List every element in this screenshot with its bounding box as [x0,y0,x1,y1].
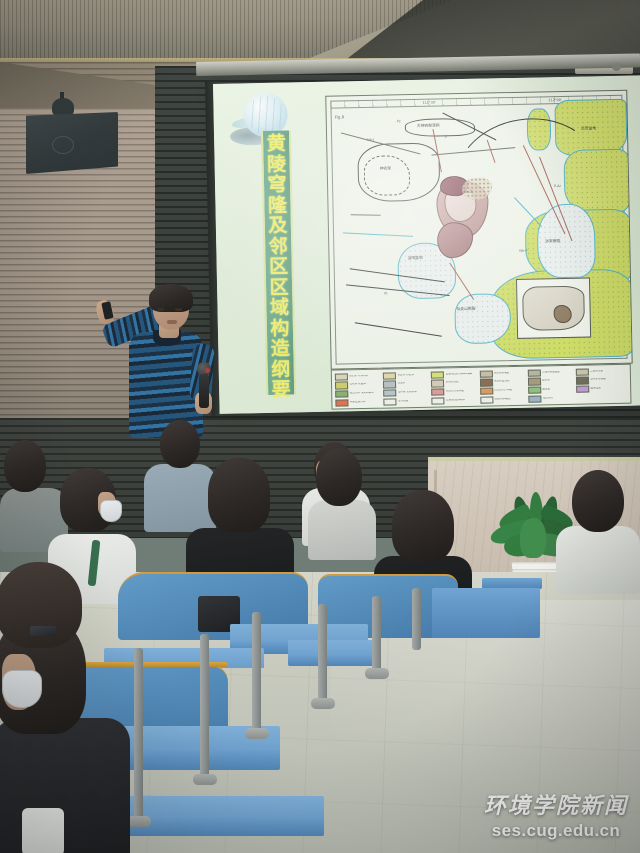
desk-side-panel [432,588,540,638]
legend-swatch [480,396,493,404]
map-place-label-0: 大神农架背斜 [417,122,440,128]
title-char-4: 及 [268,216,287,237]
legend-label: 青白口系 浅变质岩系 [350,392,374,395]
desk-leg-foot [127,816,151,827]
legend-label: 古元古代片麻岩 [494,389,512,392]
legend-item: 侏罗系碎屑岩 [479,369,525,377]
legend-item: 逆冲断层 [384,397,430,405]
phone[interactable] [30,626,56,636]
legend-swatch [384,398,397,406]
legend-swatch [576,385,589,393]
legend-swatch [480,387,493,395]
desk-leg-foot [311,698,335,709]
legend-swatch [335,390,348,398]
legend-label: 南华系冰碛岩 [590,379,606,382]
title-char-8: 域 [270,298,289,319]
legend-item: 新近系-古近系 [383,371,429,379]
legend-label: 超基性岩 [590,387,600,390]
desk-leg [412,588,421,650]
legend-swatch [383,389,396,397]
legend-label: 奥陶系灰岩 [446,382,459,385]
title-char-5: 邻 [269,236,288,257]
watermark-chinese: 环境学院新闻 [484,796,628,818]
legend-label: 二叠系灰岩 [590,370,603,373]
legend-item: 震旦系 [528,377,574,385]
legend-label: 三叠系碳酸盐岩 [542,371,560,374]
legend-label: 志留系 [398,383,406,386]
legend-swatch [576,368,589,376]
desk-leg [252,612,261,736]
lecture-hall-photo: 黄 陵 穹 隆 及 邻 区 区 域 构 造 纲 要 111°30' 112°00… [0,0,640,853]
map-basin-shennongjia-inner [363,155,410,196]
legend-label: 新近系-古近系 [397,374,414,377]
audience-head [208,458,270,532]
legend-label: 中酸性侵入体 [350,401,366,404]
legend-item: 古元古代片麻岩 [480,387,526,395]
audience-head [4,440,46,492]
legend-item: 新元古代花岗岩 [432,388,478,396]
map-unit-code-2: Nh-P [519,249,527,253]
legend-swatch [528,386,541,394]
title-char-9: 构 [270,318,289,339]
projection-screen: 黄 陵 穹 隆 及 邻 区 区 域 构 造 纲 要 111°30' 112°00… [213,75,640,414]
face-mask-icon [100,500,122,522]
legend-label: 侏罗系碎屑岩 [494,372,510,375]
map-inset-china [516,277,591,338]
map-unit-code-6: Jr [445,134,447,138]
title-char-1: 陵 [267,154,286,175]
legend-swatch [528,378,541,386]
legend-swatch [335,382,348,390]
desk-edge [124,816,324,836]
map-unit-code-4: Pt [384,292,387,296]
audience-head [392,490,454,562]
legend-label: 地质界线 [542,397,552,400]
desk-leg [372,596,381,674]
legend-label: 白垩系红层 陆相碎屑岩 [446,373,473,376]
legend-label: 逆冲断层 [398,400,408,403]
map-place-label-4: 远安断陷 [545,238,560,244]
legend-item: 超基性岩 [576,385,622,393]
presenter-eye-left [157,308,164,311]
audience-member [308,448,378,558]
legend-item: 中酸性侵入体 [335,398,381,406]
geological-map: 111°30' 112°00' Fig.8 大神农架背斜 神农架 [325,90,632,370]
legend-item: 三叠系碳酸盐岩 [528,368,574,376]
title-char-10: 造 [271,339,290,360]
legend-swatch [335,399,348,407]
legend-item: 白垩系红层 陆相碎屑岩 [431,370,477,378]
slide-title-band: 黄 陵 穹 隆 及 邻 区 区 域 构 造 纲 要 [261,130,296,395]
paper-sheet [22,808,64,853]
legend-swatch [335,373,348,381]
legend-label: 石炭系-泥盆系 [349,383,366,386]
legend-swatch [431,371,444,379]
map-place-label-1: 神农架 [380,165,392,171]
legend-swatch [383,381,396,389]
microphone-body [199,374,209,408]
speaker-mount [52,98,74,116]
legend-swatch [432,388,445,396]
map-place-label-6: 远安盆地 [581,125,596,131]
legend-label: 背斜/向斜轴迹 [494,398,510,401]
speaker-cone [52,136,74,154]
presenter-hair [149,284,193,312]
map-coord-label-0: 111°30' [422,101,435,105]
title-char-3: 隆 [268,195,287,216]
legend-swatch [480,379,493,387]
legend-item: 正断层/走滑断层 [432,396,478,404]
legend-label: 新元古代花岗岩 [446,390,464,393]
map-figure-label: Fig.8 [335,114,345,119]
title-char-11: 纲 [271,359,290,380]
map-unit-code-5: Pz [397,119,401,123]
legend-item: 二叠系灰岩 [576,367,622,375]
legend-item: 基性岩 [528,386,574,394]
desk-leg-foot [193,774,217,785]
presenter-mouth [167,320,177,324]
legend-label: 崆岭群 变质杂岩 [398,391,417,394]
legend-item: 寒武系白云岩 [480,378,526,386]
audience-head [572,470,624,532]
legend-label: 寒武系白云岩 [494,381,510,384]
title-char-7: 区 [269,277,288,298]
map-place-label-2: 当阳盆地 [407,255,422,261]
legend-item: 南华系冰碛岩 [576,376,622,384]
desk-edge [288,654,374,666]
map-legend: 第四系 冲洪积层 新近系-古近系 白垩系红层 陆相碎屑岩 侏罗系碎屑岩 三叠系碳… [331,364,632,410]
presenter-eye-right [175,308,182,311]
legend-item: 青白口系 浅变质岩系 [335,390,381,398]
audience-torso [556,526,640,594]
audience-torso [308,500,376,560]
desk-leg-foot [245,728,269,739]
legend-swatch [576,377,589,385]
audience-torso [0,718,130,853]
legend-item: 背斜/向斜轴迹 [480,395,526,403]
map-place-label-3: 仙女山断裂 [457,306,476,312]
legend-label: 第四系 冲洪积层 [349,375,368,378]
legend-label: 震旦系 [542,380,550,383]
legend-swatch [528,369,541,377]
desk-leg [134,648,143,822]
legend-swatch [383,372,396,380]
desk-leg-foot [365,668,389,679]
legend-swatch [528,395,541,403]
legend-item: 第四系 冲洪积层 [335,372,381,380]
title-char-0: 黄 [266,134,285,155]
audience-head [316,448,362,506]
legend-item: 志留系 [383,380,429,388]
legend-item: 地质界线 [528,394,574,402]
watermark: 环境学院新闻 ses.cug.edu.cn [484,796,628,839]
title-char-6: 区 [269,257,288,278]
legend-item: 崆岭群 变质杂岩 [383,389,429,397]
legend-swatch [431,380,444,388]
legend-item: 石炭系-泥盆系 [335,381,381,389]
title-char-12: 要 [271,380,290,401]
legend-swatch [432,397,445,405]
legend-label: 基性岩 [542,388,550,391]
watermark-url: ses.cug.edu.cn [484,822,628,839]
title-char-2: 穹 [267,175,286,196]
inset-study-area [554,305,572,323]
microphone-led [205,368,210,373]
desk-leg [318,604,327,704]
desk-leg [200,634,209,782]
audience-member [556,470,640,590]
legend-item: 奥陶系灰岩 [431,379,477,387]
legend-label: 正断层/走滑断层 [446,399,465,402]
legend-swatch [479,370,492,378]
